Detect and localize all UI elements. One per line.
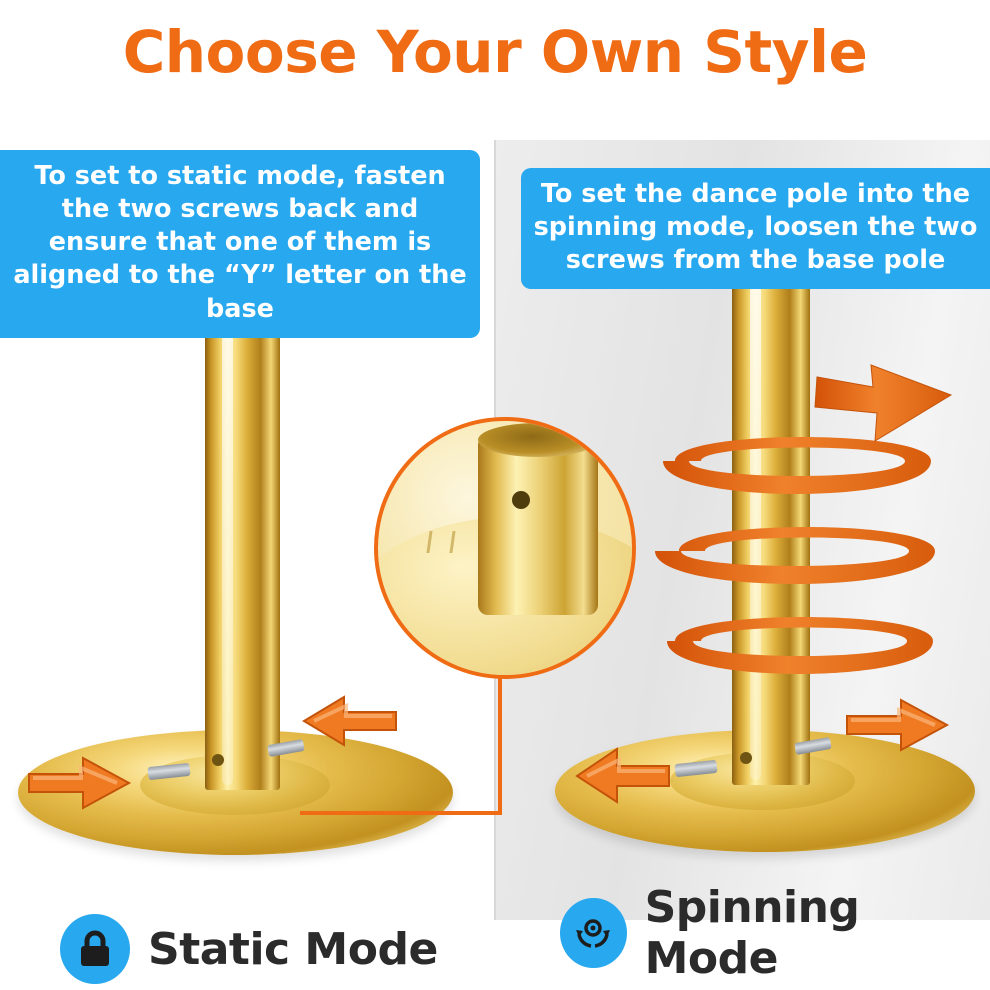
arrow-right-icon-left — [25, 748, 135, 818]
callout-pole-top-rim — [478, 423, 598, 457]
arrow-left-icon-right — [573, 740, 673, 810]
caption-static-mode: To set to static mode, fasten the two sc… — [0, 150, 480, 338]
lock-icon — [76, 929, 114, 969]
mode-row-spinning: Spinning Mode — [560, 882, 990, 984]
product-infographic: Choose Your Own Style — [0, 0, 990, 990]
callout-connector-vertical — [498, 660, 502, 815]
callout-y-letter-mark — [426, 531, 455, 553]
spiral-rotation-arrow-icon — [635, 355, 965, 705]
lock-badge — [60, 914, 130, 984]
spinning-mode-label: Spinning Mode — [645, 882, 990, 984]
arrow-left-icon-left — [300, 690, 400, 752]
screw-hole-left — [212, 754, 224, 766]
page-title: Choose Your Own Style — [0, 18, 990, 86]
magnified-screw-hole-detail — [374, 417, 636, 679]
callout-pole-stub — [478, 435, 598, 615]
spin-rotate-icon — [572, 912, 614, 954]
callout-connector-horizontal — [300, 811, 500, 815]
static-mode-label: Static Mode — [148, 924, 438, 975]
screw-hole-right — [740, 752, 752, 764]
arrow-right-icon-right — [843, 692, 953, 758]
caption-spinning-mode: To set the dance pole into the spinning … — [521, 168, 990, 289]
mode-row-static: Static Mode — [60, 914, 438, 984]
callout-screw-hole — [512, 491, 530, 509]
spin-badge — [560, 898, 627, 968]
